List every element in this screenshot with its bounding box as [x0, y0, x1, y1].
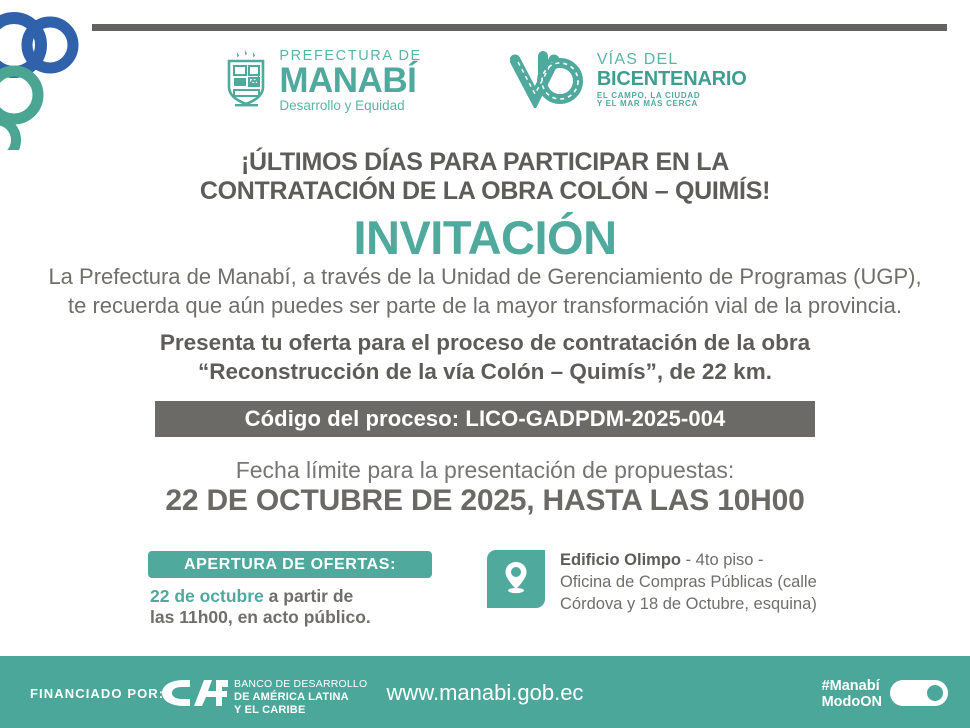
map-pin-box: [487, 550, 545, 608]
footer: FINANCIADO POR: BANCO DE DESARROLLO DE A…: [0, 656, 970, 728]
bicentenario-line1: VÍAS DEL: [597, 52, 747, 69]
map-pin-icon: [501, 559, 531, 600]
top-divider-rule: [92, 24, 947, 31]
bicentenario-logo: VÍAS DEL BICENTENARIO EL CAMPO, LA CIUDA…: [510, 48, 747, 113]
intro-line1: La Prefectura de Manabí, a través de la …: [0, 262, 970, 291]
headline-line2: CONTRATACIÓN DE LA OBRA COLÓN – QUIMÍS!: [0, 177, 970, 206]
manabi-logo-line3: Desarrollo y Equidad: [279, 99, 421, 113]
address-line3: Córdova y 18 de Octubre, esquina): [560, 594, 930, 616]
manabi-logo-line2: MANABÍ: [279, 63, 421, 98]
modo-line1: #Manabí: [822, 678, 882, 694]
intro-paragraph: La Prefectura de Manabí, a través de la …: [0, 262, 970, 320]
process-code-text: Código del proceso: LICO-GADPDM-2025-004: [245, 406, 726, 432]
modo-line2: ModoON: [822, 694, 882, 710]
address-building: Edificio Olimpo: [560, 551, 681, 569]
info-row: APERTURA DE OFERTAS: 22 de octubre a par…: [0, 548, 970, 628]
page-title: INVITACIÓN: [0, 210, 970, 265]
manabi-logo: PREFECTURA DE MANABÍ Desarrollo y Equida…: [223, 49, 421, 112]
apertura-badge: APERTURA DE OFERTAS:: [148, 551, 432, 578]
apertura-details: 22 de octubre a partir de las 11h00, en …: [150, 586, 450, 628]
deadline-label: Fecha límite para la presentación de pro…: [0, 457, 970, 484]
offer-paragraph: Presenta tu oferta para el proceso de co…: [0, 328, 970, 387]
toggle-knob: [927, 685, 943, 701]
toggle-on-icon[interactable]: [890, 680, 948, 706]
offer-line1: Presenta tu oferta para el proceso de co…: [0, 328, 970, 357]
vo-road-icon: [510, 48, 588, 113]
intro-line2: te recuerda que aún puedes ser parte de …: [0, 291, 970, 320]
caf-line3: Y EL CARIBE: [234, 704, 367, 717]
address-line2: Oficina de Compras Públicas (calle: [560, 572, 930, 594]
headline-line1: ¡ÚLTIMOS DÍAS PARA PARTICIPAR EN LA: [0, 148, 970, 177]
headline: ¡ÚLTIMOS DÍAS PARA PARTICIPAR EN LA CONT…: [0, 148, 970, 205]
apertura-date: 22 de octubre: [150, 586, 264, 606]
apertura-badge-label: APERTURA DE OFERTAS:: [184, 556, 396, 574]
address-floor: - 4to piso -: [681, 551, 764, 569]
address-text: Edificio Olimpo - 4to piso - Oficina de …: [560, 550, 930, 615]
bicentenario-line2: BICENTENARIO: [597, 69, 747, 90]
apertura-line2: las 11h00, en acto público.: [150, 607, 450, 628]
process-code-bar: Código del proceso: LICO-GADPDM-2025-004: [155, 401, 815, 437]
bicentenario-line4: Y EL MAR MÁS CERCA: [597, 100, 747, 108]
modo-on-text: #Manabí ModoON: [822, 678, 882, 710]
deadline-value: 22 DE OCTUBRE DE 2025, HASTA LAS 10H00: [0, 484, 970, 518]
apertura-rest: a partir de: [264, 586, 353, 606]
manabi-shield-icon: [223, 49, 270, 112]
decorative-rings: [0, 0, 120, 150]
logo-row: PREFECTURA DE MANABÍ Desarrollo y Equida…: [0, 48, 970, 113]
offer-line2: “Reconstrucción de la vía Colón – Quimís…: [0, 357, 970, 386]
